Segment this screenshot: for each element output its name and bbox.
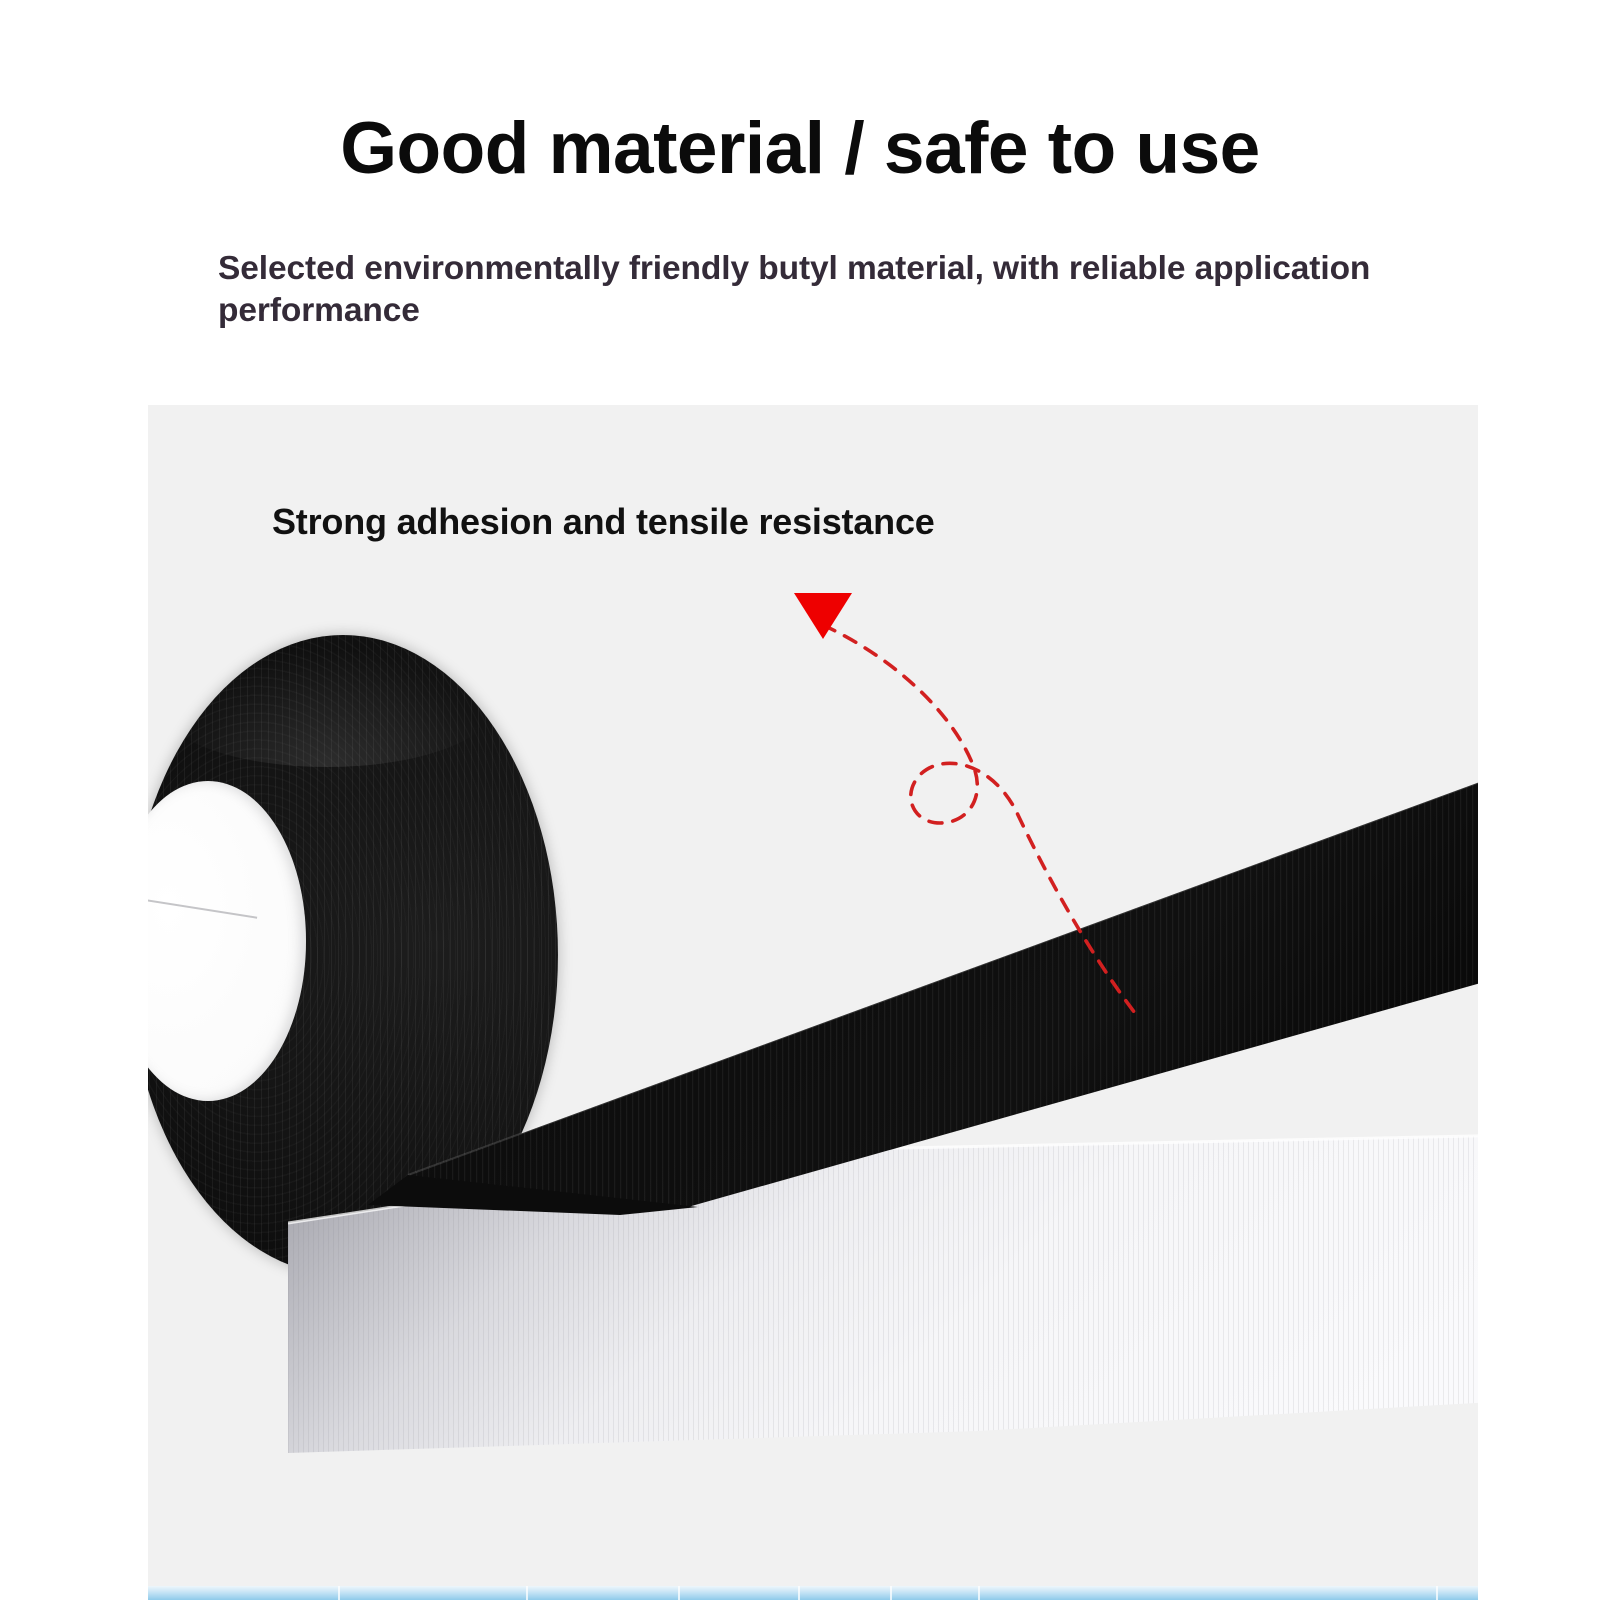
strip-divider bbox=[1436, 1586, 1438, 1600]
strip-divider bbox=[338, 1586, 340, 1600]
strip-divider bbox=[798, 1586, 800, 1600]
red-down-triangle-icon bbox=[794, 593, 852, 639]
strip-divider bbox=[678, 1586, 680, 1600]
bottom-accent-strip bbox=[148, 1586, 1478, 1600]
header-section: Good material / safe to use Selected env… bbox=[0, 0, 1600, 400]
photo-caption: Strong adhesion and tensile resistance bbox=[272, 501, 935, 543]
page-subtitle: Selected environmentally friendly butyl … bbox=[218, 248, 1448, 332]
strip-divider bbox=[978, 1586, 980, 1600]
product-photo-panel: Strong adhesion and tensile resistance bbox=[148, 405, 1478, 1600]
strip-divider bbox=[890, 1586, 892, 1600]
page-title: Good material / safe to use bbox=[0, 112, 1600, 185]
strip-divider bbox=[526, 1586, 528, 1600]
tape-strip-image bbox=[368, 735, 1478, 1215]
